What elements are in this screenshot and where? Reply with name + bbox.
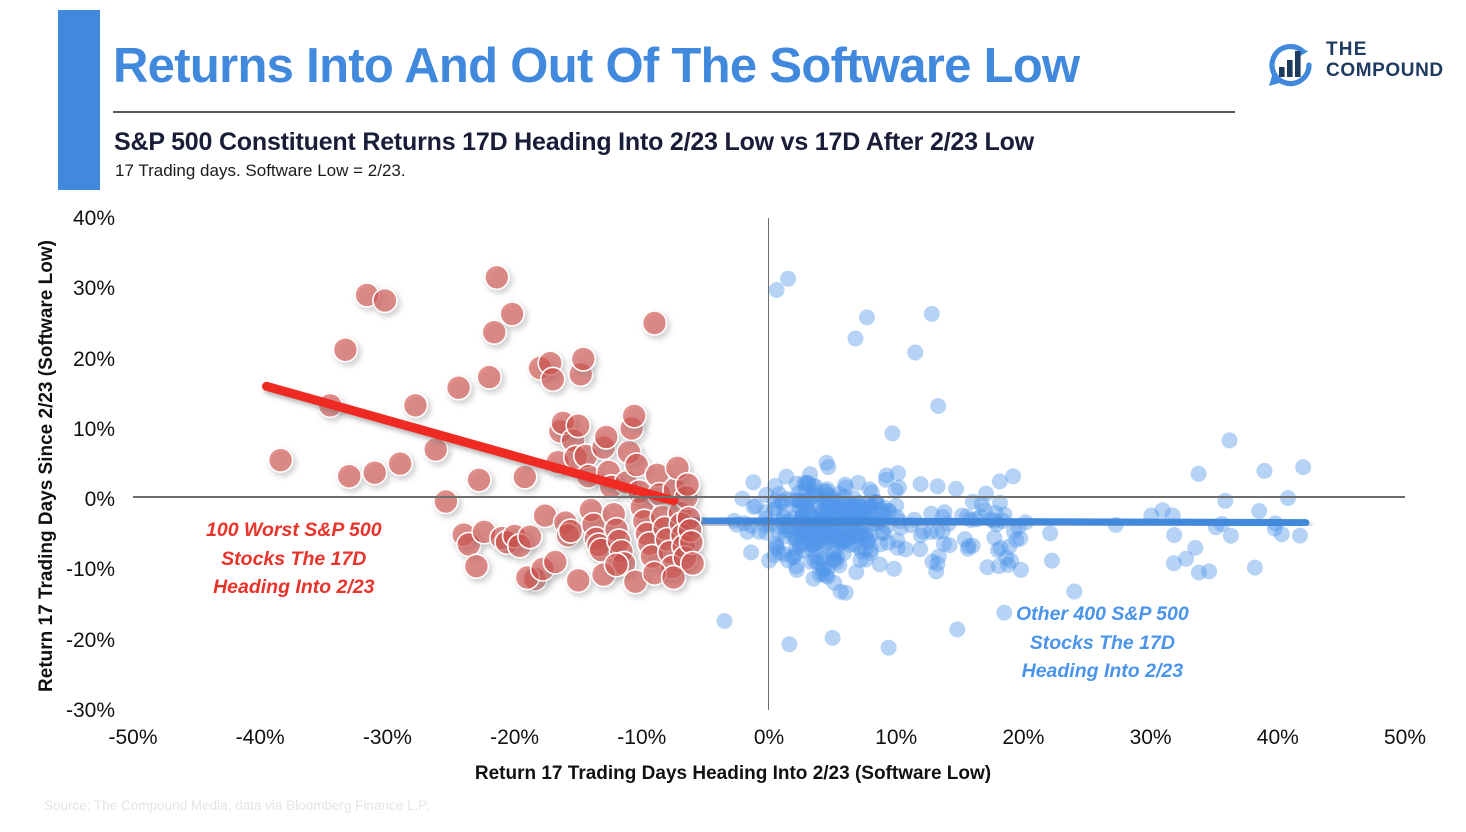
- scatter-point-blue: [829, 520, 845, 536]
- scatter-point-red: [594, 425, 618, 449]
- scatter-point-red: [604, 518, 628, 542]
- scatter-point-blue: [792, 538, 808, 554]
- scatter-point-blue: [784, 526, 800, 542]
- scatter-point-blue: [796, 518, 812, 534]
- scatter-point-blue: [825, 517, 841, 533]
- scatter-point-blue: [842, 528, 858, 544]
- scatter-point-blue: [841, 503, 857, 519]
- scatter-point-blue: [850, 528, 866, 544]
- scatter-point-blue: [807, 515, 823, 531]
- scatter-point-blue: [751, 524, 767, 540]
- x-axis-label: Return 17 Trading Days Heading Into 2/23…: [0, 763, 1466, 785]
- scatter-point-blue: [842, 515, 858, 531]
- scatter-point-blue: [827, 551, 843, 567]
- scatter-point-blue: [855, 502, 871, 518]
- scatter-point-blue: [817, 537, 833, 553]
- scatter-point-blue: [745, 474, 761, 490]
- scatter-point-blue: [876, 506, 892, 522]
- scatter-point-red: [620, 417, 644, 441]
- scatter-point-blue: [1155, 502, 1171, 518]
- y-tick-label: -30%: [55, 699, 115, 723]
- scatter-point-blue: [848, 564, 864, 580]
- scatter-point-blue: [824, 547, 840, 563]
- scatter-point-red: [587, 533, 611, 557]
- scatter-point-red: [679, 530, 703, 554]
- scatter-point-blue: [823, 501, 839, 517]
- scatter-point-blue: [840, 524, 856, 540]
- scatter-point-red: [500, 302, 524, 326]
- scatter-point-blue: [1292, 528, 1308, 544]
- scatter-point-red: [559, 519, 583, 543]
- scatter-point-blue: [819, 512, 835, 528]
- scatter-point-blue: [831, 486, 847, 502]
- scatter-point-blue: [816, 529, 832, 545]
- scatter-point-blue: [758, 525, 774, 541]
- scatter-point-blue: [758, 504, 774, 520]
- scatter-point-blue: [776, 509, 792, 525]
- scatter-point-blue: [806, 478, 822, 494]
- scatter-point-blue: [800, 502, 816, 518]
- scatter-point-blue: [865, 515, 881, 531]
- annotation-line: Heading Into 2/23: [206, 573, 382, 602]
- scatter-point-blue: [863, 497, 879, 513]
- scatter-point-blue: [859, 503, 875, 519]
- scatter-point-blue: [795, 507, 811, 523]
- scatter-point-blue: [787, 519, 803, 535]
- scatter-point-blue: [913, 527, 929, 543]
- scatter-point-blue: [1280, 490, 1296, 506]
- scatter-point-blue: [803, 530, 819, 546]
- scatter-point-blue: [929, 556, 945, 572]
- x-tick-label: 50%: [1360, 726, 1450, 750]
- scatter-point-blue: [844, 502, 860, 518]
- scatter-point-blue: [980, 559, 996, 575]
- scatter-point-blue: [858, 541, 874, 557]
- scatter-point-blue: [860, 534, 876, 550]
- scatter-point-blue: [801, 523, 817, 539]
- scatter-point-blue: [769, 540, 785, 556]
- scatter-point-blue: [819, 508, 835, 524]
- scatter-point-blue: [792, 500, 808, 516]
- scatter-point-red: [543, 550, 567, 574]
- scatter-point-blue: [815, 566, 831, 582]
- scatter-point-blue: [816, 518, 832, 534]
- scatter-point-red: [655, 528, 679, 552]
- scatter-point-blue: [820, 487, 836, 503]
- scatter-point-blue: [734, 491, 750, 507]
- scatter-point-blue: [822, 495, 838, 511]
- scatter-point-blue: [781, 636, 797, 652]
- scatter-point-blue: [846, 491, 862, 507]
- scatter-point-blue: [1201, 563, 1217, 579]
- scatter-point-red: [602, 502, 626, 526]
- scatter-point-blue: [890, 465, 906, 481]
- scatter-point-blue: [789, 476, 805, 492]
- scatter-point-blue: [854, 543, 870, 559]
- scatter-point-blue: [986, 530, 1002, 546]
- scatter-point-blue: [780, 519, 796, 535]
- scatter-point-red: [582, 513, 606, 537]
- scatter-point-blue: [815, 534, 831, 550]
- scatter-point-blue: [769, 282, 785, 298]
- scatter-point-blue: [854, 503, 870, 519]
- scatter-point-blue: [834, 512, 850, 528]
- scatter-point-blue: [1208, 519, 1224, 535]
- scatter-point-red: [464, 554, 488, 578]
- scatter-point-blue: [1247, 560, 1263, 576]
- scatter-point-blue: [802, 521, 818, 537]
- scatter-point-red: [607, 529, 631, 553]
- scatter-point-blue: [923, 524, 939, 540]
- scatter-point-blue: [799, 499, 815, 515]
- scatter-point-blue: [988, 505, 1004, 521]
- scatter-point-blue: [851, 522, 867, 538]
- scatter-point-red: [561, 428, 585, 452]
- scatter-point-blue: [879, 519, 895, 535]
- scatter-point-red: [515, 566, 539, 590]
- scatter-point-blue: [881, 640, 897, 656]
- scatter-point-blue: [997, 507, 1013, 523]
- y-tick-label: 40%: [55, 207, 115, 231]
- scatter-point-blue: [996, 605, 1012, 621]
- scatter-point-blue: [816, 551, 832, 567]
- scatter-point-blue: [794, 509, 810, 525]
- scatter-point-blue: [786, 510, 802, 526]
- scatter-point-blue: [848, 331, 864, 347]
- scatter-point-red: [576, 464, 600, 488]
- scatter-point-blue: [828, 533, 844, 549]
- scatter-point-blue: [856, 517, 872, 533]
- scatter-point-red: [388, 452, 412, 476]
- scatter-point-blue: [843, 497, 859, 513]
- scatter-point-blue: [972, 509, 988, 525]
- scatter-point-blue: [852, 506, 868, 522]
- scatter-point-blue: [826, 490, 842, 506]
- scatter-point-blue: [821, 521, 837, 537]
- scatter-point-blue: [837, 496, 853, 512]
- scatter-point-blue: [1005, 468, 1021, 484]
- scatter-point-blue: [890, 540, 906, 556]
- scatter-point-blue: [767, 501, 783, 517]
- y-axis-line: [768, 218, 770, 710]
- scatter-point-red: [424, 438, 448, 462]
- scatter-point-blue: [846, 536, 862, 552]
- scatter-point-blue: [820, 569, 836, 585]
- scatter-point-blue: [778, 469, 794, 485]
- scatter-point-blue: [833, 584, 849, 600]
- scatter-point-blue: [792, 492, 808, 508]
- scatter-point-blue: [717, 613, 733, 629]
- scatter-point-red: [513, 465, 537, 489]
- scatter-point-red: [566, 568, 590, 592]
- scatter-point-blue: [831, 500, 847, 516]
- scatter-point-blue: [798, 533, 814, 549]
- scatter-point-red: [663, 478, 687, 502]
- scatter-point-blue: [987, 513, 1003, 529]
- scatter-point-blue: [803, 554, 819, 570]
- scatter-point-blue: [959, 509, 975, 525]
- scatter-point-blue: [777, 519, 793, 535]
- scatter-point-blue: [978, 486, 994, 502]
- scatter-point-red: [482, 320, 506, 344]
- scatter-point-blue: [860, 532, 876, 548]
- scatter-point-blue: [968, 511, 984, 527]
- scatter-point-blue: [791, 528, 807, 544]
- scatter-point-blue: [784, 549, 800, 565]
- scatter-point-blue: [777, 504, 793, 520]
- scatter-point-blue: [852, 552, 868, 568]
- scatter-point-blue: [822, 513, 838, 529]
- scatter-point-blue: [808, 487, 824, 503]
- scatter-point-blue: [798, 519, 814, 535]
- scatter-point-blue: [880, 535, 896, 551]
- trendline-blue: [671, 521, 1306, 523]
- scatter-point-blue: [936, 536, 952, 552]
- scatter-point-blue: [831, 530, 847, 546]
- annotation-line: Other 400 S&P 500: [1016, 600, 1189, 629]
- scatter-point-red: [355, 283, 379, 307]
- scatter-point-blue: [1018, 514, 1034, 530]
- scatter-point-blue: [913, 476, 929, 492]
- scatter-point-blue: [837, 477, 853, 493]
- scatter-point-blue: [834, 535, 850, 551]
- scatter-point-blue: [1042, 525, 1058, 541]
- scatter-point-blue: [831, 557, 847, 573]
- y-tick-label: 10%: [55, 418, 115, 442]
- scatter-point-blue: [780, 552, 796, 568]
- scatter-point-blue: [848, 528, 864, 544]
- scatter-point-blue: [930, 398, 946, 414]
- scatter-point-blue: [928, 564, 944, 580]
- annotation-line: Heading Into 2/23: [1016, 657, 1189, 686]
- scatter-point-blue: [818, 567, 834, 583]
- scatter-point-blue: [794, 512, 810, 528]
- scatter-point-blue: [771, 544, 787, 560]
- scatter-point-red: [523, 567, 547, 591]
- y-tick-label: 30%: [55, 277, 115, 301]
- x-axis-ticks: -50%-40%-30%-20%-10%0%10%20%30%40%50%: [0, 726, 1466, 756]
- scatter-point-blue: [889, 533, 905, 549]
- scatter-point-red: [592, 563, 616, 587]
- scatter-point-blue: [1256, 463, 1272, 479]
- scatter-point-blue: [802, 534, 818, 550]
- scatter-point-blue: [838, 480, 854, 496]
- scatter-point-blue: [808, 548, 824, 564]
- scatter-point-blue: [825, 630, 841, 646]
- scatter-point-red: [615, 471, 639, 495]
- scatter-point-blue: [782, 513, 798, 529]
- scatter-point-blue: [815, 509, 831, 525]
- annotation-line: Stocks The 17D: [1016, 629, 1189, 658]
- scatter-point-blue: [819, 527, 835, 543]
- scatter-point-red: [671, 523, 695, 547]
- scatter-point-blue: [806, 571, 822, 587]
- scatter-point-red: [665, 456, 689, 480]
- y-tick-label: 0%: [55, 488, 115, 512]
- scatter-point-red: [637, 532, 661, 556]
- scatter-point-blue: [854, 503, 870, 519]
- scatter-point-blue: [828, 554, 844, 570]
- x-tick-label: -40%: [215, 726, 305, 750]
- scatter-point-blue: [827, 522, 843, 538]
- scatter-point-blue: [758, 511, 774, 527]
- scatter-point-blue: [881, 503, 897, 519]
- scatter-point-blue: [837, 533, 853, 549]
- scatter-point-blue: [961, 538, 977, 554]
- scatter-point-blue: [1166, 555, 1182, 571]
- scatter-point-blue: [815, 504, 831, 520]
- scatter-point-blue: [862, 506, 878, 522]
- scatter-point-blue: [808, 495, 824, 511]
- scatter-point-blue: [807, 478, 823, 494]
- scatter-point-blue: [801, 526, 817, 542]
- y-tick-label: 20%: [55, 348, 115, 372]
- scatter-point-blue: [814, 492, 830, 508]
- scatter-point-blue: [778, 491, 794, 507]
- scatter-point-blue: [823, 502, 839, 518]
- scatter-point-blue: [821, 520, 837, 536]
- y-tick-label: -20%: [55, 629, 115, 653]
- scatter-point-blue: [829, 548, 845, 564]
- scatter-point-blue: [875, 507, 891, 523]
- scatter-point-blue: [931, 549, 947, 565]
- scatter-point-blue: [957, 531, 973, 547]
- scatter-point-blue: [1001, 539, 1017, 555]
- scatter-point-blue: [819, 481, 835, 497]
- scatter-point-red: [653, 516, 677, 540]
- scatter-point-red: [625, 453, 649, 477]
- scatter-point-blue: [768, 535, 784, 551]
- x-tick-label: -50%: [88, 726, 178, 750]
- scatter-point-blue: [833, 497, 849, 513]
- scatter-point-blue: [977, 502, 993, 518]
- scatter-point-blue: [812, 566, 828, 582]
- x-tick-label: -30%: [342, 726, 432, 750]
- scatter-point-blue: [810, 555, 826, 571]
- scatter-point-blue: [1006, 524, 1022, 540]
- scatter-point-red: [669, 512, 693, 536]
- scatter-point-blue: [826, 552, 842, 568]
- scatter-point-blue: [788, 530, 804, 546]
- scatter-point-blue: [856, 527, 872, 543]
- scatter-point-blue: [935, 509, 951, 525]
- scatter-point-red: [662, 566, 686, 590]
- scatter-point-red: [508, 534, 532, 558]
- scatter-point-blue: [907, 345, 923, 361]
- scatter-point-blue: [806, 522, 822, 538]
- scatter-point-blue: [942, 537, 958, 553]
- scatter-point-blue: [817, 492, 833, 508]
- scatter-point-blue: [937, 504, 953, 520]
- scatter-point-blue: [819, 530, 835, 546]
- scatter-point-blue: [999, 550, 1015, 566]
- scatter-point-red: [564, 445, 588, 469]
- scatter-point-red: [592, 435, 616, 459]
- scatter-point-blue: [1008, 532, 1024, 548]
- scatter-point-blue: [771, 486, 787, 502]
- scatter-point-blue: [954, 508, 970, 524]
- scatter-point-red: [645, 463, 669, 487]
- scatter-point-blue: [828, 533, 844, 549]
- scatter-point-blue: [829, 493, 845, 509]
- scatter-point-blue: [888, 498, 904, 514]
- scatter-point-blue: [874, 502, 890, 518]
- scatter-point-blue: [876, 525, 892, 541]
- scatter-point-blue: [851, 539, 867, 555]
- scatter-point-blue: [846, 498, 862, 514]
- scatter-point-red: [622, 404, 646, 428]
- scatter-point-red: [533, 504, 557, 528]
- scatter-point-blue: [858, 527, 874, 543]
- scatter-point-red: [269, 448, 293, 472]
- scatter-point-red: [658, 540, 682, 564]
- annotation-line: Stocks The 17D: [206, 545, 382, 574]
- scatter-point-blue: [1013, 562, 1029, 578]
- scatter-point-blue: [833, 520, 849, 536]
- scatter-point-blue: [786, 549, 802, 565]
- scatter-point-blue: [898, 541, 914, 557]
- scatter-point-blue: [788, 558, 804, 574]
- annotation-blue-group: Other 400 S&P 500Stocks The 17DHeading I…: [1016, 600, 1189, 686]
- scatter-point-red: [548, 419, 572, 443]
- scatter-point-red: [434, 490, 458, 514]
- scatter-point-blue: [802, 491, 818, 507]
- x-tick-label: 10%: [851, 726, 941, 750]
- scatter-point-blue: [740, 524, 756, 540]
- scatter-point-blue: [989, 516, 1005, 532]
- scatter-point-blue: [993, 540, 1009, 556]
- scatter-point-blue: [820, 459, 836, 475]
- scatter-point-blue: [829, 500, 845, 516]
- scatter-point-blue: [930, 478, 946, 494]
- scatter-point-blue: [746, 499, 762, 515]
- scatter-point-blue: [820, 560, 836, 576]
- scatter-point-blue: [806, 536, 822, 552]
- scatter-plot: 40%30%20%10%0%-10%-20%-30% -50%-40%-30%-…: [0, 0, 1466, 832]
- scatter-point-blue: [1066, 584, 1082, 600]
- scatter-point-blue: [1003, 553, 1019, 569]
- scatter-point-blue: [820, 509, 836, 525]
- scatter-point-red: [333, 338, 357, 362]
- scatter-point-blue: [828, 503, 844, 519]
- scatter-point-blue: [800, 493, 816, 509]
- scatter-point-blue: [863, 498, 879, 514]
- scatter-point-blue: [847, 501, 863, 517]
- scatter-point-blue: [960, 541, 976, 557]
- scatter-point-blue: [849, 513, 865, 529]
- scatter-point-blue: [833, 529, 849, 545]
- scatter-point-red: [648, 483, 672, 507]
- scatter-point-blue: [743, 544, 759, 560]
- scatter-point-blue: [836, 545, 852, 561]
- scatter-point-red: [569, 362, 593, 386]
- scatter-point-blue: [819, 503, 835, 519]
- x-tick-label: -10%: [597, 726, 687, 750]
- scatter-point-blue: [828, 500, 844, 516]
- scatter-point-blue: [822, 509, 838, 525]
- scatter-point-blue: [876, 500, 892, 516]
- scatter-point-blue: [1267, 521, 1283, 537]
- x-tick-label: 40%: [1233, 726, 1323, 750]
- scatter-point-blue: [906, 512, 922, 528]
- scatter-point-blue: [992, 473, 1008, 489]
- scatter-point-blue: [813, 550, 829, 566]
- scatter-point-blue: [823, 513, 839, 529]
- scatter-point-blue: [893, 520, 909, 536]
- scatter-point-blue: [862, 481, 878, 497]
- scatter-point-red: [627, 480, 651, 504]
- scatter-point-blue: [924, 554, 940, 570]
